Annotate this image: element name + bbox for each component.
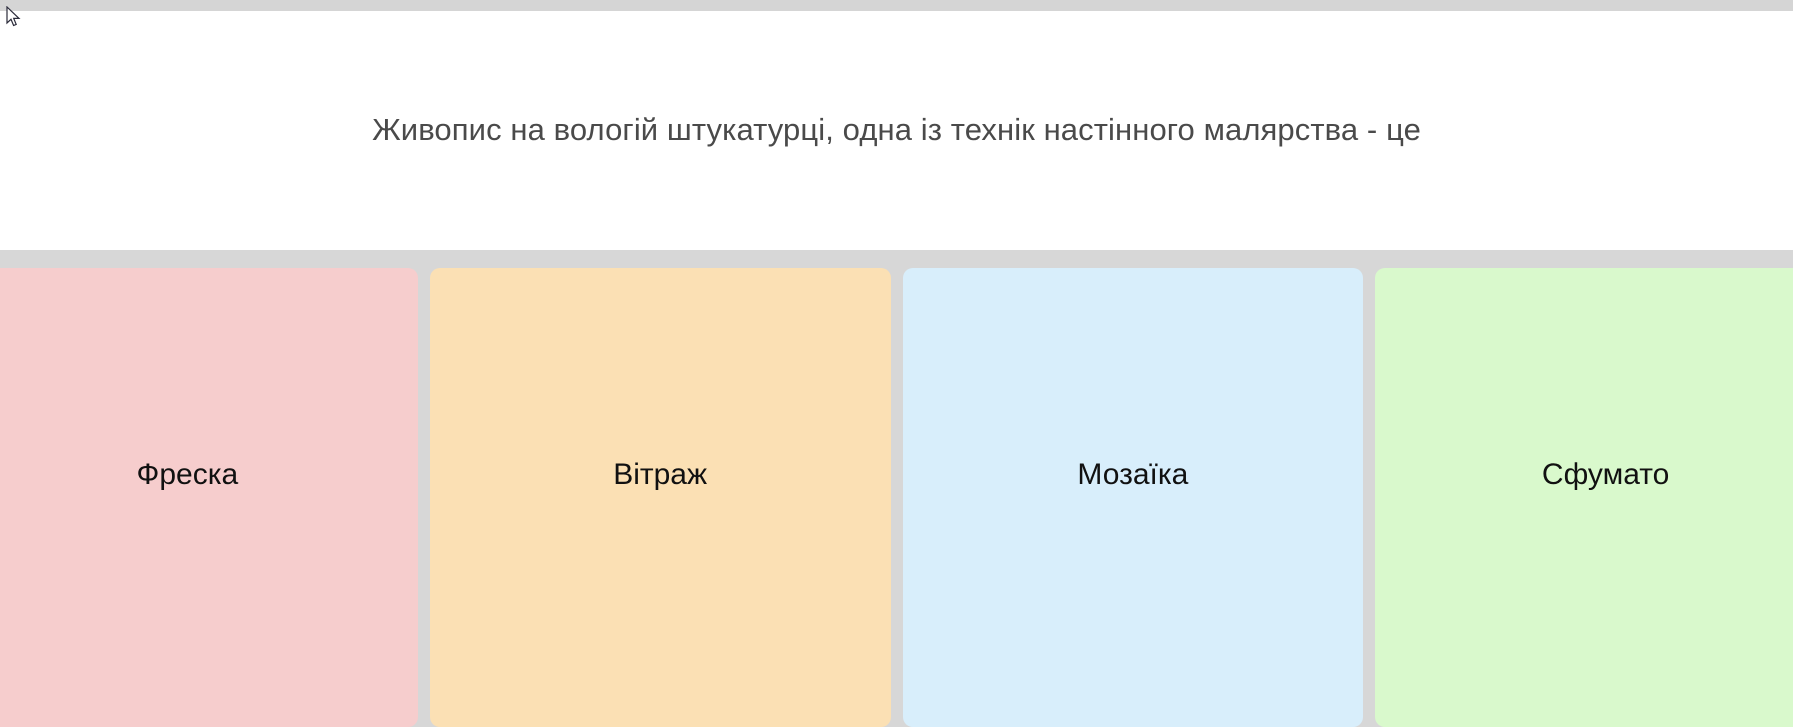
- answer-card-3[interactable]: Мозаїка: [903, 268, 1364, 727]
- answer-label-3: Мозаїка: [1077, 458, 1188, 492]
- question-panel: Живопис на вологій штукатурці, одна із т…: [0, 11, 1793, 250]
- question-text: Живопис на вологій штукатурці, одна із т…: [372, 111, 1421, 150]
- answer-label-4: Сфумато: [1542, 458, 1669, 492]
- top-chrome-strip: [0, 0, 1793, 11]
- answer-card-1[interactable]: Фреска: [0, 268, 418, 727]
- answer-card-4[interactable]: Сфумато: [1375, 268, 1793, 727]
- answer-card-2[interactable]: Вітраж: [430, 268, 891, 727]
- quiz-screen: Живопис на вологій штукатурці, одна із т…: [0, 0, 1793, 727]
- answer-label-2: Вітраж: [613, 458, 707, 492]
- answers-row: Фреска Вітраж Мозаїка Сфумато: [0, 268, 1793, 727]
- answer-label-1: Фреска: [137, 458, 239, 492]
